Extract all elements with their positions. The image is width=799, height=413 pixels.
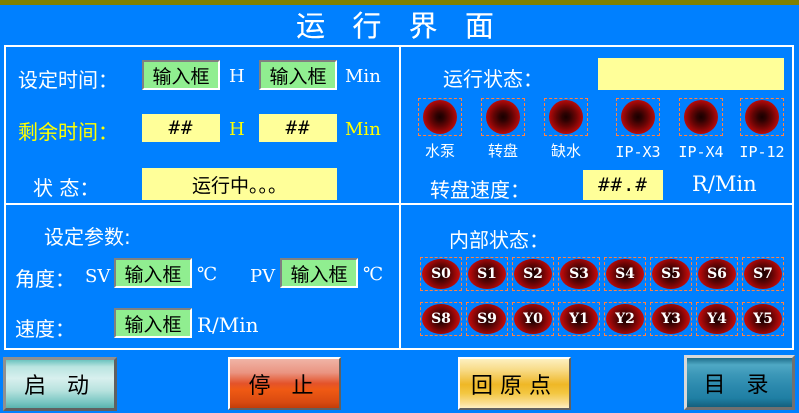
stop-button[interactable]: 停 止	[228, 357, 341, 410]
remain-time-hour-unit: H	[229, 119, 245, 140]
remain-time-minute-unit: Min	[345, 119, 381, 140]
internal-lamp-y5-indicator: Y5	[744, 304, 782, 334]
internal-lamp-s7-indicator: S7	[744, 259, 782, 289]
home-button[interactable]: 回原点	[458, 357, 571, 410]
lamp-pump-indicator	[423, 100, 457, 134]
lamp-pump-caption: 水泵	[412, 140, 468, 161]
internal-lamp-y5-label: Y5	[744, 304, 782, 334]
menu-button[interactable]: 目 录	[684, 355, 795, 410]
internal-status-heading: 内部状态：	[449, 224, 549, 253]
state-value: 运行中。。。	[142, 168, 337, 200]
set-time-hour-unit: H	[229, 66, 245, 87]
lamp-ip-x4-caption: IP-X4	[669, 143, 733, 161]
internal-lamp-y2-indicator: Y2	[606, 304, 644, 334]
internal-lamp-s3[interactable]: S3	[558, 257, 600, 291]
internal-lamp-y3-label: Y3	[652, 304, 690, 334]
internal-lamp-s8-indicator: S8	[422, 304, 460, 334]
lamp-water-shortage-caption: 缺水	[538, 140, 594, 161]
disk-speed-value: ##.#	[583, 170, 663, 200]
internal-lamp-s8[interactable]: S8	[420, 302, 462, 336]
internal-lamp-s6[interactable]: S6	[696, 257, 738, 291]
internal-lamp-s9-label: S9	[468, 304, 506, 334]
internal-lamp-y0-indicator: Y0	[514, 304, 552, 334]
lamp-ip-x4[interactable]	[679, 98, 723, 136]
internal-lamp-s2-indicator: S2	[514, 259, 552, 289]
internal-lamp-s8-label: S8	[422, 304, 460, 334]
params-heading: 设定参数:	[44, 221, 131, 250]
set-time-hour-input[interactable]: 输入框	[142, 60, 220, 90]
internal-lamp-s7-label: S7	[744, 259, 782, 289]
lamp-ip-x3[interactable]	[616, 98, 660, 136]
state-label: 状 态：	[33, 172, 99, 201]
lamp-turntable-indicator	[486, 100, 520, 134]
internal-lamp-y3-indicator: Y3	[652, 304, 690, 334]
internal-lamp-y0[interactable]: Y0	[512, 302, 554, 336]
internal-lamp-s4-indicator: S4	[606, 259, 644, 289]
internal-lamp-y4[interactable]: Y4	[696, 302, 738, 336]
angle-pv-unit: ℃	[363, 264, 383, 285]
internal-lamp-s0[interactable]: S0	[420, 257, 462, 291]
angle-sv-label: SV	[85, 266, 110, 287]
speed-label: 速度：	[15, 313, 75, 342]
angle-label: 角度：	[15, 263, 75, 292]
internal-lamp-s5-indicator: S5	[652, 259, 690, 289]
lamp-water-shortage[interactable]	[544, 98, 588, 136]
internal-lamp-s6-indicator: S6	[698, 259, 736, 289]
internal-lamp-s2[interactable]: S2	[512, 257, 554, 291]
internal-lamp-s6-label: S6	[698, 259, 736, 289]
internal-lamp-s3-label: S3	[560, 259, 598, 289]
hmi-screen: 运 行 界 面 设定时间： 输入框 H 输入框 Min 剩余时间： ## H #…	[0, 0, 799, 413]
speed-unit: R/Min	[197, 313, 259, 337]
internal-lamp-s1-indicator: S1	[468, 259, 506, 289]
horizontal-divider	[6, 203, 793, 205]
internal-lamp-s4[interactable]: S4	[604, 257, 646, 291]
speed-input[interactable]: 输入框	[114, 308, 192, 338]
internal-lamp-s5[interactable]: S5	[650, 257, 692, 291]
vertical-divider	[399, 47, 401, 348]
lamp-ip-x3-caption: IP-X3	[606, 143, 670, 161]
set-time-label: 设定时间：	[18, 64, 118, 93]
run-state-label: 运行状态：	[443, 63, 543, 92]
internal-lamp-y4-indicator: Y4	[698, 304, 736, 334]
angle-pv-label: PV	[250, 266, 275, 287]
remain-time-label: 剩余时间：	[18, 116, 118, 145]
lamp-pump[interactable]	[418, 98, 462, 136]
internal-lamp-y4-label: Y4	[698, 304, 736, 334]
lamp-ip-12-caption: IP-12	[730, 143, 794, 161]
internal-lamp-y1[interactable]: Y1	[558, 302, 600, 336]
lamp-water-shortage-indicator	[549, 100, 583, 134]
set-time-minute-input[interactable]: 输入框	[259, 60, 337, 90]
internal-lamp-s9-indicator: S9	[468, 304, 506, 334]
internal-lamp-s7[interactable]: S7	[742, 257, 784, 291]
remain-time-hour-value: ##	[142, 114, 220, 142]
disk-speed-unit: R/Min	[692, 172, 757, 196]
internal-lamp-s0-label: S0	[422, 259, 460, 289]
internal-lamp-s1[interactable]: S1	[466, 257, 508, 291]
internal-lamp-y3[interactable]: Y3	[650, 302, 692, 336]
internal-lamp-y2[interactable]: Y2	[604, 302, 646, 336]
lamp-ip-x4-indicator	[684, 100, 718, 134]
internal-lamp-y0-label: Y0	[514, 304, 552, 334]
angle-pv-input[interactable]: 输入框	[280, 258, 358, 288]
internal-lamp-y2-label: Y2	[606, 304, 644, 334]
lamp-turntable[interactable]	[481, 98, 525, 136]
lamp-ip-x3-indicator	[621, 100, 655, 134]
internal-lamp-s4-label: S4	[606, 259, 644, 289]
lamp-turntable-caption: 转盘	[475, 140, 531, 161]
lamp-ip-12-indicator	[745, 100, 779, 134]
remain-time-minute-value: ##	[259, 114, 337, 142]
internal-lamp-s2-label: S2	[514, 259, 552, 289]
internal-lamp-y1-label: Y1	[560, 304, 598, 334]
internal-lamp-y1-indicator: Y1	[560, 304, 598, 334]
page-title: 运 行 界 面	[0, 5, 799, 43]
internal-lamp-s1-label: S1	[468, 259, 506, 289]
internal-lamp-s5-label: S5	[652, 259, 690, 289]
run-state-value	[598, 58, 784, 90]
angle-sv-unit: ℃	[197, 264, 217, 285]
internal-lamp-s3-indicator: S3	[560, 259, 598, 289]
disk-speed-label: 转盘速度：	[430, 174, 530, 203]
start-button[interactable]: 启 动	[3, 357, 117, 411]
angle-sv-input[interactable]: 输入框	[114, 258, 192, 288]
set-time-minute-unit: Min	[345, 66, 381, 87]
lamp-ip-12[interactable]	[740, 98, 784, 136]
internal-lamp-s9[interactable]: S9	[466, 302, 508, 336]
internal-lamp-s0-indicator: S0	[422, 259, 460, 289]
internal-lamp-y5[interactable]: Y5	[742, 302, 784, 336]
